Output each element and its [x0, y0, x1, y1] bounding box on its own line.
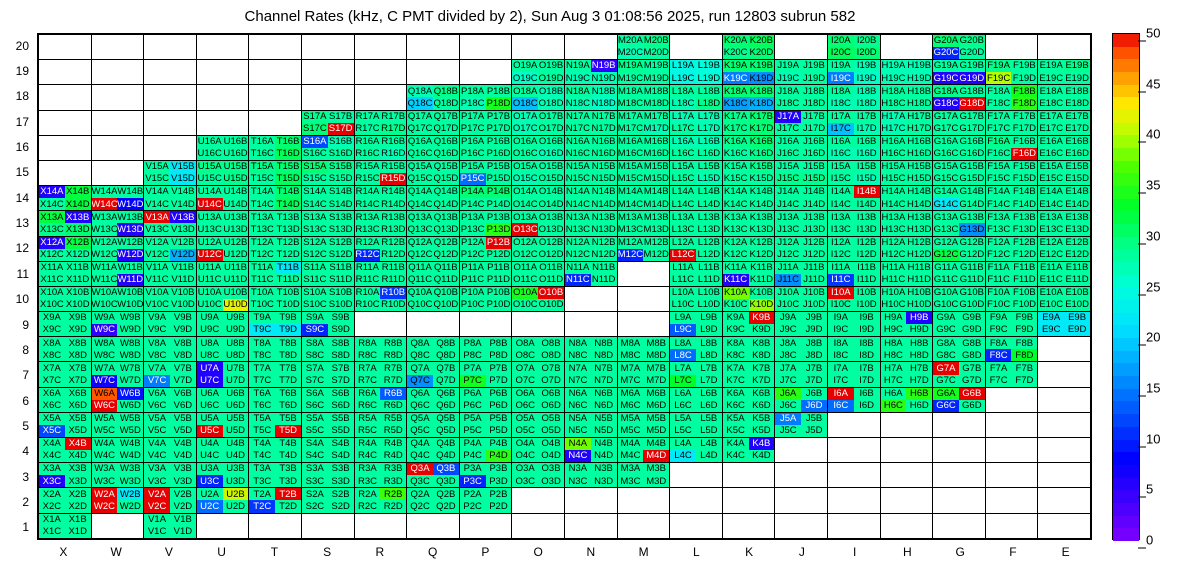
- grid-cell-Q3[interactable]: Q3AQ3BQ3CQ3D: [407, 463, 460, 488]
- channel-U11A[interactable]: U11A: [197, 262, 223, 274]
- channel-I6A[interactable]: I6A: [828, 388, 854, 400]
- grid-cell-N13[interactable]: N13AN13BN13CN13D: [564, 211, 617, 236]
- channel-P18C[interactable]: P18C: [460, 97, 486, 109]
- channel-P16C[interactable]: P16C: [460, 148, 486, 160]
- grid-cell-X7[interactable]: X7AX7BX7CX7D: [39, 362, 92, 387]
- channel-W8C[interactable]: W8C: [92, 349, 118, 361]
- channel-J14C[interactable]: J14C: [775, 198, 801, 210]
- grid-cell-O14[interactable]: O14AO14BO14CO14D: [512, 186, 565, 211]
- channel-E11A[interactable]: E11A: [1038, 262, 1064, 274]
- grid-cell-N18[interactable]: N18AN18BN18CN18D: [564, 85, 617, 110]
- channel-P6D[interactable]: P6D: [486, 400, 512, 412]
- channel-U13B[interactable]: U13B: [223, 211, 249, 223]
- grid-cell-I12[interactable]: I12AI12BI12CI12D: [827, 236, 880, 261]
- channel-N17D[interactable]: N17D: [591, 123, 617, 135]
- grid-cell-E13[interactable]: E13AE13BE13CE13D: [1038, 211, 1091, 236]
- channel-J11C[interactable]: J11C: [775, 274, 801, 286]
- channel-E19C[interactable]: E19C: [1038, 72, 1064, 84]
- channel-H7D[interactable]: H7D: [906, 375, 932, 387]
- grid-cell-H12[interactable]: H12AH12BH12CH12D: [880, 236, 933, 261]
- channel-R8A[interactable]: R8A: [355, 337, 381, 349]
- grid-cell-Q4[interactable]: Q4AQ4BQ4CQ4D: [407, 438, 460, 463]
- channel-P14B[interactable]: P14B: [486, 186, 512, 198]
- channel-Q12B[interactable]: Q12B: [433, 237, 459, 249]
- grid-cell-X18[interactable]: [39, 85, 92, 110]
- grid-cell-G8[interactable]: G8AG8BG8CG8D: [933, 337, 986, 362]
- channel-F13D[interactable]: F13D: [1011, 223, 1037, 235]
- channel-I9D[interactable]: I9D: [854, 324, 880, 336]
- channel-E11B[interactable]: E11B: [1064, 262, 1090, 274]
- grid-cell-N1[interactable]: [564, 513, 617, 538]
- channel-P15C[interactable]: P15C: [460, 173, 486, 185]
- channel-H9B[interactable]: H9B: [906, 312, 932, 324]
- channel-M7B[interactable]: M7B: [643, 362, 669, 374]
- channel-T7B[interactable]: T7B: [275, 362, 301, 374]
- channel-X14B[interactable]: X14B: [65, 186, 91, 198]
- grid-cell-N4[interactable]: N4AN4BN4CN4D: [564, 438, 617, 463]
- channel-V15A[interactable]: V15A: [144, 161, 170, 173]
- channel-J17B[interactable]: J17B: [801, 111, 827, 123]
- channel-U6B[interactable]: U6B: [223, 388, 249, 400]
- grid-cell-G14[interactable]: G14AG14BG14CG14D: [933, 186, 986, 211]
- channel-O14C[interactable]: O14C: [512, 198, 538, 210]
- channel-G17A[interactable]: G17A: [933, 111, 959, 123]
- grid-cell-Q7[interactable]: Q7AQ7BQ7CQ7D: [407, 362, 460, 387]
- grid-cell-X12[interactable]: X12AX12BX12CX12D: [39, 236, 92, 261]
- channel-E9D[interactable]: E9D: [1064, 324, 1090, 336]
- channel-L7C[interactable]: L7C: [670, 375, 696, 387]
- grid-cell-S3[interactable]: S3AS3BS3CS3D: [301, 463, 354, 488]
- grid-cell-V15[interactable]: V15AV15BV15CV15D: [144, 160, 197, 185]
- channel-W9A[interactable]: W9A: [92, 312, 118, 324]
- channel-W7C[interactable]: W7C: [92, 375, 118, 387]
- channel-W14D[interactable]: W14D: [117, 198, 143, 210]
- grid-cell-X16[interactable]: [39, 135, 92, 160]
- channel-Q3D[interactable]: Q3D: [433, 475, 459, 487]
- channel-S9D[interactable]: S9D: [328, 324, 354, 336]
- channel-E12B[interactable]: E12B: [1064, 237, 1090, 249]
- channel-F14D[interactable]: F14D: [1011, 198, 1037, 210]
- channel-R17B[interactable]: R17B: [380, 111, 406, 123]
- channel-E9A[interactable]: E9A: [1038, 312, 1064, 324]
- channel-U9A[interactable]: U9A: [197, 312, 223, 324]
- grid-cell-P19[interactable]: [459, 60, 512, 85]
- channel-Q13C[interactable]: Q13C: [407, 223, 433, 235]
- grid-cell-E11[interactable]: E11AE11BE11CE11D: [1038, 261, 1091, 286]
- channel-W4B[interactable]: W4B: [117, 438, 143, 450]
- channel-H10A[interactable]: H10A: [881, 287, 907, 299]
- channel-S9B[interactable]: S9B: [328, 312, 354, 324]
- channel-L12A[interactable]: L12A: [670, 237, 696, 249]
- grid-cell-E2[interactable]: [1038, 488, 1091, 513]
- channel-S3C[interactable]: S3C: [302, 475, 328, 487]
- grid-cell-F19[interactable]: F19AF19BF19CF19D: [985, 60, 1038, 85]
- channel-J10C[interactable]: J10C: [775, 299, 801, 311]
- grid-cell-M1[interactable]: [617, 513, 670, 538]
- grid-cell-V12[interactable]: V12AV12BV12CV12D: [144, 236, 197, 261]
- channel-V5D[interactable]: V5D: [170, 425, 196, 437]
- channel-S12D[interactable]: S12D: [328, 249, 354, 261]
- channel-O11B[interactable]: O11B: [538, 262, 564, 274]
- grid-cell-W16[interactable]: [91, 135, 144, 160]
- grid-cell-O10[interactable]: O10AO10BO10CO10D: [512, 286, 565, 311]
- channel-Q15C[interactable]: Q15C: [407, 173, 433, 185]
- channel-T11B[interactable]: T11B: [275, 262, 301, 274]
- channel-Q14B[interactable]: Q14B: [433, 186, 459, 198]
- grid-cell-P7[interactable]: P7AP7BP7CP7D: [459, 362, 512, 387]
- grid-cell-R12[interactable]: R12AR12BR12CR12D: [354, 236, 407, 261]
- channel-L11B[interactable]: L11B: [696, 262, 722, 274]
- channel-K20D[interactable]: K20D: [749, 47, 775, 59]
- channel-N13B[interactable]: N13B: [591, 211, 617, 223]
- channel-O14A[interactable]: O14A: [512, 186, 538, 198]
- channel-V5A[interactable]: V5A: [144, 413, 170, 425]
- channel-K7A[interactable]: K7A: [723, 362, 749, 374]
- channel-I16A[interactable]: I16A: [828, 136, 854, 148]
- channel-S14C[interactable]: S14C: [302, 198, 328, 210]
- channel-S4C[interactable]: S4C: [302, 450, 328, 462]
- grid-cell-F11[interactable]: F11AF11BF11CF11D: [985, 261, 1038, 286]
- channel-G10D[interactable]: G10D: [959, 299, 985, 311]
- channel-T4B[interactable]: T4B: [275, 438, 301, 450]
- grid-cell-K8[interactable]: K8AK8BK8CK8D: [722, 337, 775, 362]
- channel-H10B[interactable]: H10B: [906, 287, 932, 299]
- channel-K13A[interactable]: K13A: [723, 211, 749, 223]
- grid-cell-R17[interactable]: R17AR17BR17CR17D: [354, 110, 407, 135]
- channel-N16B[interactable]: N16B: [591, 136, 617, 148]
- channel-K7C[interactable]: K7C: [723, 375, 749, 387]
- channel-O10D[interactable]: O10D: [538, 299, 564, 311]
- channel-X8C[interactable]: X8C: [39, 349, 65, 361]
- channel-M19A[interactable]: M19A: [618, 60, 644, 72]
- grid-cell-E17[interactable]: E17AE17BE17CE17D: [1038, 110, 1091, 135]
- channel-S4D[interactable]: S4D: [328, 450, 354, 462]
- grid-cell-V3[interactable]: V3AV3BV3CV3D: [144, 463, 197, 488]
- channel-T16A[interactable]: T16A: [249, 136, 275, 148]
- channel-N3D[interactable]: N3D: [591, 475, 617, 487]
- grid-cell-P6[interactable]: P6AP6BP6CP6D: [459, 387, 512, 412]
- channel-U11D[interactable]: U11D: [223, 274, 249, 286]
- channel-U10A[interactable]: U10A: [197, 287, 223, 299]
- channel-F17D[interactable]: F17D: [1011, 123, 1037, 135]
- channel-P6A[interactable]: P6A: [460, 388, 486, 400]
- channel-Q13B[interactable]: Q13B: [433, 211, 459, 223]
- channel-R16D[interactable]: R16D: [380, 148, 406, 160]
- grid-cell-T17[interactable]: [249, 110, 302, 135]
- channel-X8B[interactable]: X8B: [65, 337, 91, 349]
- channel-R10B[interactable]: R10B: [380, 287, 406, 299]
- channel-W4C[interactable]: W4C: [92, 450, 118, 462]
- grid-cell-J20[interactable]: [775, 35, 828, 60]
- channel-L15B[interactable]: L15B: [696, 161, 722, 173]
- channel-L12C[interactable]: L12C: [670, 249, 696, 261]
- grid-cell-Q2[interactable]: Q2AQ2BQ2CQ2D: [407, 488, 460, 513]
- grid-cell-Q15[interactable]: Q15AQ15BQ15CQ15D: [407, 160, 460, 185]
- grid-cell-O11[interactable]: O11AO11BO11CO11D: [512, 261, 565, 286]
- channel-U16A[interactable]: U16A: [197, 136, 223, 148]
- grid-cell-M8[interactable]: M8AM8BM8CM8D: [617, 337, 670, 362]
- channel-N17C[interactable]: N17C: [565, 123, 591, 135]
- channel-H15A[interactable]: H15A: [881, 161, 907, 173]
- channel-S15C[interactable]: S15C: [302, 173, 328, 185]
- channel-E19A[interactable]: E19A: [1038, 60, 1064, 72]
- channel-L17D[interactable]: L17D: [696, 123, 722, 135]
- channel-J5B[interactable]: J5B: [801, 413, 827, 425]
- grid-cell-N9[interactable]: [564, 312, 617, 337]
- channel-N14A[interactable]: N14A: [565, 186, 591, 198]
- channel-J7C[interactable]: J7C: [775, 375, 801, 387]
- channel-J7B[interactable]: J7B: [801, 362, 827, 374]
- grid-cell-M13[interactable]: M13AM13BM13CM13D: [617, 211, 670, 236]
- channel-F18C[interactable]: F18C: [986, 97, 1012, 109]
- channel-N4A[interactable]: N4A: [565, 438, 591, 450]
- channel-H7B[interactable]: H7B: [906, 362, 932, 374]
- grid-cell-V14[interactable]: V14AV14BV14CV14D: [144, 186, 197, 211]
- channel-L14A[interactable]: L14A: [670, 186, 696, 198]
- channel-J17C[interactable]: J17C: [775, 123, 801, 135]
- channel-V11C[interactable]: V11C: [144, 274, 170, 286]
- channel-I17B[interactable]: I17B: [854, 111, 880, 123]
- channel-E16A[interactable]: E16A: [1038, 136, 1064, 148]
- channel-T4D[interactable]: T4D: [275, 450, 301, 462]
- channel-J16A[interactable]: J16A: [775, 136, 801, 148]
- grid-cell-H20[interactable]: [880, 35, 933, 60]
- channel-Q18B[interactable]: Q18B: [433, 85, 459, 97]
- channel-H17A[interactable]: H17A: [881, 111, 907, 123]
- channel-X10C[interactable]: X10C: [39, 299, 65, 311]
- grid-cell-E8[interactable]: [1038, 337, 1091, 362]
- channel-T5B[interactable]: T5B: [275, 413, 301, 425]
- channel-V13D[interactable]: V13D: [170, 223, 196, 235]
- grid-cell-L20[interactable]: [670, 35, 723, 60]
- channel-S11B[interactable]: S11B: [328, 262, 354, 274]
- grid-cell-P8[interactable]: P8AP8BP8CP8D: [459, 337, 512, 362]
- channel-N16D[interactable]: N16D: [591, 148, 617, 160]
- channel-Q16C[interactable]: Q16C: [407, 148, 433, 160]
- channel-F12C[interactable]: F12C: [986, 249, 1012, 261]
- channel-N16C[interactable]: N16C: [565, 148, 591, 160]
- grid-cell-S10[interactable]: S10AS10BS10CS10D: [301, 286, 354, 311]
- channel-I16C[interactable]: I16C: [828, 148, 854, 160]
- channel-T14B[interactable]: T14B: [275, 186, 301, 198]
- grid-cell-O6[interactable]: O6AO6BO6CO6D: [512, 387, 565, 412]
- grid-cell-X9[interactable]: X9AX9BX9CX9D: [39, 312, 92, 337]
- channel-R16A[interactable]: R16A: [355, 136, 381, 148]
- channel-T7A[interactable]: T7A: [249, 362, 275, 374]
- channel-M5B[interactable]: M5B: [643, 413, 669, 425]
- channel-M12C[interactable]: M12C: [618, 249, 644, 261]
- channel-L6D[interactable]: L6D: [696, 400, 722, 412]
- channel-N19C[interactable]: N19C: [565, 72, 591, 84]
- channel-U4D[interactable]: U4D: [223, 450, 249, 462]
- channel-P8D[interactable]: P8D: [486, 349, 512, 361]
- grid-cell-S15[interactable]: S15AS15BS15CS15D: [301, 160, 354, 185]
- channel-F19C[interactable]: F19C: [986, 72, 1012, 84]
- channel-K16A[interactable]: K16A: [723, 136, 749, 148]
- channel-G19B[interactable]: G19B: [959, 60, 985, 72]
- channel-O16B[interactable]: O16B: [538, 136, 564, 148]
- channel-G10A[interactable]: G10A: [933, 287, 959, 299]
- channel-J9D[interactable]: J9D: [801, 324, 827, 336]
- channel-V3D[interactable]: V3D: [170, 475, 196, 487]
- channel-Q13D[interactable]: Q13D: [433, 223, 459, 235]
- channel-L14C[interactable]: L14C: [670, 198, 696, 210]
- grid-cell-U16[interactable]: U16AU16BU16CU16D: [196, 135, 249, 160]
- channel-G20B[interactable]: G20B: [959, 35, 985, 47]
- channel-R14B[interactable]: R14B: [380, 186, 406, 198]
- grid-cell-F17[interactable]: F17AF17BF17CF17D: [985, 110, 1038, 135]
- grid-cell-F6[interactable]: [985, 387, 1038, 412]
- channel-O15A[interactable]: O15A: [512, 161, 538, 173]
- channel-X7B[interactable]: X7B: [65, 362, 91, 374]
- grid-cell-R2[interactable]: R2AR2BR2CR2D: [354, 488, 407, 513]
- channel-Q17C[interactable]: Q17C: [407, 123, 433, 135]
- grid-cell-F2[interactable]: [985, 488, 1038, 513]
- grid-cell-S2[interactable]: S2AS2BS2CS2D: [301, 488, 354, 513]
- grid-cell-H10[interactable]: H10AH10BH10CH10D: [880, 286, 933, 311]
- channel-T11D[interactable]: T11D: [275, 274, 301, 286]
- grid-cell-G12[interactable]: G12AG12BG12CG12D: [933, 236, 986, 261]
- channel-M13C[interactable]: M13C: [618, 223, 644, 235]
- channel-S7B[interactable]: S7B: [328, 362, 354, 374]
- channel-V1D[interactable]: V1D: [170, 526, 196, 538]
- grid-cell-K1[interactable]: [722, 513, 775, 538]
- channel-X13A[interactable]: X13A: [39, 211, 65, 223]
- grid-cell-I11[interactable]: I11AI11BI11CI11D: [827, 261, 880, 286]
- channel-W4D[interactable]: W4D: [117, 450, 143, 462]
- channel-Q5A[interactable]: Q5A: [407, 413, 433, 425]
- channel-Q2A[interactable]: Q2A: [407, 488, 433, 500]
- channel-T14D[interactable]: T14D: [275, 198, 301, 210]
- channel-K19D[interactable]: K19D: [749, 72, 775, 84]
- channel-M13A[interactable]: M13A: [618, 211, 644, 223]
- grid-cell-G11[interactable]: G11AG11BG11CG11D: [933, 261, 986, 286]
- channel-L16A[interactable]: L16A: [670, 136, 696, 148]
- grid-cell-J16[interactable]: J16AJ16BJ16CJ16D: [775, 135, 828, 160]
- channel-K10D[interactable]: K10D: [749, 299, 775, 311]
- channel-E18D[interactable]: E18D: [1064, 97, 1090, 109]
- grid-cell-V19[interactable]: [144, 60, 197, 85]
- channel-W6B[interactable]: W6B: [117, 388, 143, 400]
- channel-T10B[interactable]: T10B: [275, 287, 301, 299]
- grid-cell-R14[interactable]: R14AR14BR14CR14D: [354, 186, 407, 211]
- channel-V5B[interactable]: V5B: [170, 413, 196, 425]
- channel-I18A[interactable]: I18A: [828, 85, 854, 97]
- channel-W2A[interactable]: W2A: [92, 488, 118, 500]
- channel-R17A[interactable]: R17A: [355, 111, 381, 123]
- channel-E12A[interactable]: E12A: [1038, 237, 1064, 249]
- channel-G14A[interactable]: G14A: [933, 186, 959, 198]
- channel-M18A[interactable]: M18A: [618, 85, 644, 97]
- channel-G12B[interactable]: G12B: [959, 237, 985, 249]
- channel-K12A[interactable]: K12A: [723, 237, 749, 249]
- channel-T10A[interactable]: T10A: [249, 287, 275, 299]
- channel-J15C[interactable]: J15C: [775, 173, 801, 185]
- grid-cell-E1[interactable]: [1038, 513, 1091, 538]
- channel-L9B[interactable]: L9B: [696, 312, 722, 324]
- grid-cell-O12[interactable]: O12AO12BO12CO12D: [512, 236, 565, 261]
- channel-K9A[interactable]: K9A: [723, 312, 749, 324]
- channel-E9C[interactable]: E9C: [1038, 324, 1064, 336]
- channel-H6B[interactable]: H6B: [906, 388, 932, 400]
- channel-I20C[interactable]: I20C: [828, 47, 854, 59]
- channel-E19B[interactable]: E19B: [1064, 60, 1090, 72]
- channel-M5C[interactable]: M5C: [618, 425, 644, 437]
- channel-W2C[interactable]: W2C: [92, 500, 118, 512]
- channel-P13A[interactable]: P13A: [460, 211, 486, 223]
- channel-U7A[interactable]: U7A: [197, 362, 223, 374]
- channel-P13D[interactable]: P13D: [486, 223, 512, 235]
- channel-R6D[interactable]: R6D: [380, 400, 406, 412]
- channel-K4B[interactable]: K4B: [749, 438, 775, 450]
- grid-cell-N14[interactable]: N14AN14BN14CN14D: [564, 186, 617, 211]
- channel-M7D[interactable]: M7D: [643, 375, 669, 387]
- grid-cell-Q5[interactable]: Q5AQ5BQ5CQ5D: [407, 412, 460, 437]
- grid-cell-R11[interactable]: R11AR11BR11CR11D: [354, 261, 407, 286]
- channel-R6C[interactable]: R6C: [355, 400, 381, 412]
- channel-I11A[interactable]: I11A: [828, 262, 854, 274]
- channel-M20D[interactable]: M20D: [643, 47, 669, 59]
- grid-cell-U18[interactable]: [196, 85, 249, 110]
- grid-cell-W11[interactable]: W11AW11BW11CW11D: [91, 261, 144, 286]
- channel-E16C[interactable]: E16C: [1038, 148, 1064, 160]
- channel-S7A[interactable]: S7A: [302, 362, 328, 374]
- channel-F11C[interactable]: F11C: [986, 274, 1012, 286]
- channel-S2B[interactable]: S2B: [328, 488, 354, 500]
- channel-K15D[interactable]: K15D: [749, 173, 775, 185]
- channel-T3B[interactable]: T3B: [275, 463, 301, 475]
- grid-cell-K11[interactable]: K11AK11BK11CK11D: [722, 261, 775, 286]
- grid-cell-H6[interactable]: H6AH6BH6CH6D: [880, 387, 933, 412]
- channel-O5A[interactable]: O5A: [512, 413, 538, 425]
- channel-G14D[interactable]: G14D: [959, 198, 985, 210]
- channel-T5A[interactable]: T5A: [249, 413, 275, 425]
- grid-cell-L18[interactable]: L18AL18BL18CL18D: [670, 85, 723, 110]
- channel-T13A[interactable]: T13A: [249, 211, 275, 223]
- grid-cell-R18[interactable]: [354, 85, 407, 110]
- channel-Q8D[interactable]: Q8D: [433, 349, 459, 361]
- channel-U5B[interactable]: U5B: [223, 413, 249, 425]
- channel-F17B[interactable]: F17B: [1011, 111, 1037, 123]
- grid-cell-P11[interactable]: P11AP11BP11CP11D: [459, 261, 512, 286]
- channel-S15D[interactable]: S15D: [328, 173, 354, 185]
- channel-Q14A[interactable]: Q14A: [407, 186, 433, 198]
- channel-S2D[interactable]: S2D: [328, 500, 354, 512]
- grid-cell-L5[interactable]: L5AL5BL5CL5D: [670, 412, 723, 437]
- channel-X8D[interactable]: X8D: [65, 349, 91, 361]
- channel-W7B[interactable]: W7B: [117, 362, 143, 374]
- channel-V9C[interactable]: V9C: [144, 324, 170, 336]
- channel-H13A[interactable]: H13A: [881, 211, 907, 223]
- grid-cell-O7[interactable]: O7AO7BO7CO7D: [512, 362, 565, 387]
- channel-P12D[interactable]: P12D: [486, 249, 512, 261]
- channel-U15B[interactable]: U15B: [223, 161, 249, 173]
- channel-Q16B[interactable]: Q16B: [433, 136, 459, 148]
- channel-V9D[interactable]: V9D: [170, 324, 196, 336]
- channel-U4A[interactable]: U4A: [197, 438, 223, 450]
- channel-L11C[interactable]: L11C: [670, 274, 696, 286]
- grid-cell-O9[interactable]: [512, 312, 565, 337]
- channel-H15C[interactable]: H15C: [881, 173, 907, 185]
- grid-cell-T11[interactable]: T11AT11BT11CT11D: [249, 261, 302, 286]
- channel-K18D[interactable]: K18D: [749, 97, 775, 109]
- channel-J18D[interactable]: J18D: [801, 97, 827, 109]
- channel-I14B[interactable]: I14B: [854, 186, 880, 198]
- channel-T13C[interactable]: T13C: [249, 223, 275, 235]
- channel-S8C[interactable]: S8C: [302, 349, 328, 361]
- grid-cell-U3[interactable]: U3AU3BU3CU3D: [196, 463, 249, 488]
- grid-cell-P2[interactable]: P2AP2BP2CP2D: [459, 488, 512, 513]
